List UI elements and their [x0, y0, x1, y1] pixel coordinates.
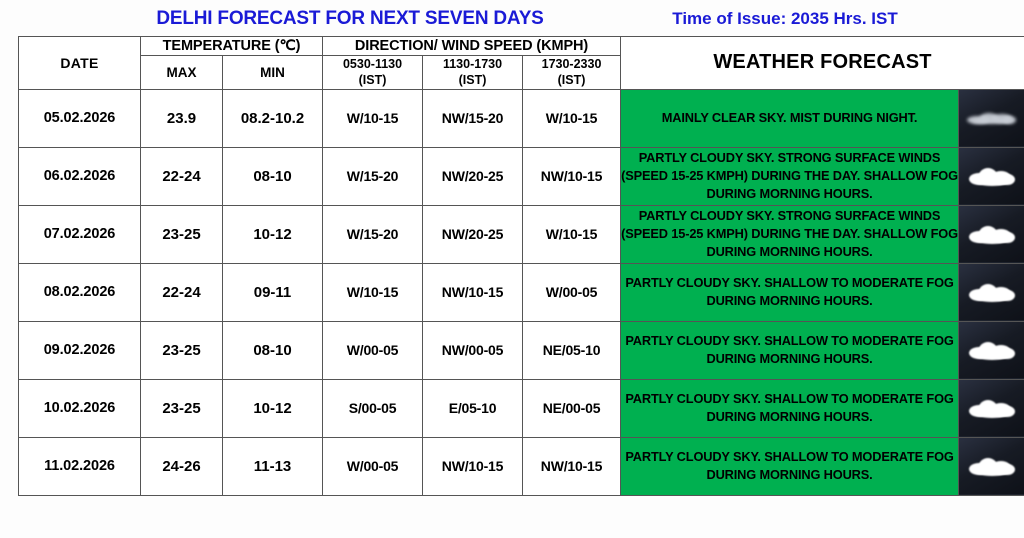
cell-max-temp: 23.9 — [141, 89, 223, 147]
table-row: 07.02.202623-2510-12W/15-20NW/20-25W/10-… — [19, 205, 1024, 263]
cell-wind-1130-1730: NW/00-05 — [423, 321, 523, 379]
column-header-slot-0530-1130: 0530-1130 (IST) — [323, 56, 423, 90]
table-row: 10.02.202623-2510-12S/00-05E/05-10NE/00-… — [19, 379, 1024, 437]
table-row: 11.02.202624-2611-13W/00-05NW/10-15NW/10… — [19, 437, 1024, 495]
cell-date: 11.02.2026 — [19, 437, 141, 495]
column-header-slot-1730-2330: 1730-2330 (IST) — [523, 56, 621, 90]
table-row: 08.02.202622-2409-11W/10-15NW/10-15W/00-… — [19, 263, 1024, 321]
cell-wind-1130-1730: NW/20-25 — [423, 205, 523, 263]
cell-max-temp: 22-24 — [141, 263, 223, 321]
cell-date: 05.02.2026 — [19, 89, 141, 147]
column-header-temperature: TEMPERATURE (℃) — [141, 37, 323, 56]
cell-wind-1130-1730: NW/15-20 — [423, 89, 523, 147]
cell-weather-icon — [959, 263, 1024, 321]
slot3-ist: (IST) — [523, 72, 620, 88]
slot2-range: 1130-1730 — [423, 56, 522, 72]
table-row: 05.02.202623.908.2-10.2W/10-15NW/15-20W/… — [19, 89, 1024, 147]
title-bar: DELHI FORECAST FOR NEXT SEVEN DAYS Time … — [0, 0, 1024, 36]
slot1-ist: (IST) — [323, 72, 422, 88]
forecast-page: DELHI FORECAST FOR NEXT SEVEN DAYS Time … — [0, 0, 1024, 538]
cloud-icon — [959, 90, 1024, 146]
cell-date: 08.02.2026 — [19, 263, 141, 321]
table-row: 06.02.202622-2408-10W/15-20NW/20-25NW/10… — [19, 147, 1024, 205]
cloud-icon — [959, 264, 1024, 320]
cell-date: 10.02.2026 — [19, 379, 141, 437]
column-header-max: MAX — [141, 56, 223, 90]
cell-min-temp: 10-12 — [223, 205, 323, 263]
cell-wind-1130-1730: NW/20-25 — [423, 147, 523, 205]
cell-date: 09.02.2026 — [19, 321, 141, 379]
cloud-glyph — [967, 224, 1017, 244]
cell-min-temp: 11-13 — [223, 437, 323, 495]
cell-max-temp: 22-24 — [141, 147, 223, 205]
cell-weather-forecast: PARTLY CLOUDY SKY. SHALLOW TO MODERATE F… — [621, 263, 959, 321]
cell-weather-icon — [959, 379, 1024, 437]
cell-weather-forecast: PARTLY CLOUDY SKY. SHALLOW TO MODERATE F… — [621, 437, 959, 495]
cell-min-temp: 08-10 — [223, 321, 323, 379]
cloud-glyph — [967, 456, 1017, 476]
cell-weather-forecast: PARTLY CLOUDY SKY. STRONG SURFACE WINDS … — [621, 205, 959, 263]
cell-weather-icon — [959, 89, 1024, 147]
cloud-icon — [959, 438, 1024, 494]
cell-weather-forecast: PARTLY CLOUDY SKY. SHALLOW TO MODERATE F… — [621, 321, 959, 379]
cell-weather-forecast: PARTLY CLOUDY SKY. STRONG SURFACE WINDS … — [621, 147, 959, 205]
column-header-date: DATE — [19, 37, 141, 90]
cell-min-temp: 08-10 — [223, 147, 323, 205]
table-header: DATE TEMPERATURE (℃) DIRECTION/ WIND SPE… — [19, 37, 1024, 90]
table-row: 09.02.202623-2508-10W/00-05NW/00-05NE/05… — [19, 321, 1024, 379]
cell-max-temp: 23-25 — [141, 321, 223, 379]
cloud-icon — [959, 206, 1024, 262]
column-header-slot-1130-1730: 1130-1730 (IST) — [423, 56, 523, 90]
cell-wind-1730-2330: NW/10-15 — [523, 147, 621, 205]
cell-wind-0530-1130: W/15-20 — [323, 147, 423, 205]
cell-wind-1730-2330: W/00-05 — [523, 263, 621, 321]
cell-date: 07.02.2026 — [19, 205, 141, 263]
cell-max-temp: 23-25 — [141, 379, 223, 437]
page-title: DELHI FORECAST FOR NEXT SEVEN DAYS — [120, 8, 580, 30]
table-body: 05.02.202623.908.2-10.2W/10-15NW/15-20W/… — [19, 89, 1024, 495]
cell-wind-0530-1130: W/15-20 — [323, 205, 423, 263]
cloud-glyph — [967, 282, 1017, 302]
column-header-wind: DIRECTION/ WIND SPEED (KMPH) — [323, 37, 621, 56]
cell-wind-0530-1130: W/00-05 — [323, 437, 423, 495]
cell-wind-1130-1730: E/05-10 — [423, 379, 523, 437]
cloud-icon — [959, 148, 1024, 204]
cell-max-temp: 24-26 — [141, 437, 223, 495]
header-row-1: DATE TEMPERATURE (℃) DIRECTION/ WIND SPE… — [19, 37, 1024, 56]
cloud-icon — [959, 380, 1024, 436]
cell-wind-1130-1730: NW/10-15 — [423, 437, 523, 495]
cell-weather-icon — [959, 147, 1024, 205]
column-header-weather-forecast: WEATHER FORECAST — [621, 37, 1024, 90]
cell-min-temp: 09-11 — [223, 263, 323, 321]
column-header-min: MIN — [223, 56, 323, 90]
cell-wind-0530-1130: W/10-15 — [323, 263, 423, 321]
cell-wind-0530-1130: S/00-05 — [323, 379, 423, 437]
cloud-glyph — [967, 166, 1017, 186]
cell-weather-icon — [959, 205, 1024, 263]
cloud-glyph — [967, 108, 1017, 128]
cell-wind-1730-2330: NE/05-10 — [523, 321, 621, 379]
cell-wind-0530-1130: W/00-05 — [323, 321, 423, 379]
cell-wind-1730-2330: W/10-15 — [523, 205, 621, 263]
forecast-table: DATE TEMPERATURE (℃) DIRECTION/ WIND SPE… — [18, 36, 1024, 496]
cell-min-temp: 10-12 — [223, 379, 323, 437]
cell-weather-forecast: MAINLY CLEAR SKY. MIST DURING NIGHT. — [621, 89, 959, 147]
slot3-range: 1730-2330 — [523, 56, 620, 72]
cloud-glyph — [967, 340, 1017, 360]
cloud-glyph — [967, 398, 1017, 418]
cell-weather-icon — [959, 321, 1024, 379]
cell-wind-1730-2330: NE/00-05 — [523, 379, 621, 437]
cell-weather-forecast: PARTLY CLOUDY SKY. SHALLOW TO MODERATE F… — [621, 379, 959, 437]
cell-wind-1730-2330: W/10-15 — [523, 89, 621, 147]
cell-wind-1730-2330: NW/10-15 — [523, 437, 621, 495]
slot2-ist: (IST) — [423, 72, 522, 88]
issue-time-label: Time of Issue: 2035 Hrs. IST — [620, 9, 950, 29]
cell-weather-icon — [959, 437, 1024, 495]
cell-min-temp: 08.2-10.2 — [223, 89, 323, 147]
slot1-range: 0530-1130 — [323, 56, 422, 72]
cloud-icon — [959, 322, 1024, 378]
cell-date: 06.02.2026 — [19, 147, 141, 205]
cell-wind-0530-1130: W/10-15 — [323, 89, 423, 147]
cell-wind-1130-1730: NW/10-15 — [423, 263, 523, 321]
cell-max-temp: 23-25 — [141, 205, 223, 263]
